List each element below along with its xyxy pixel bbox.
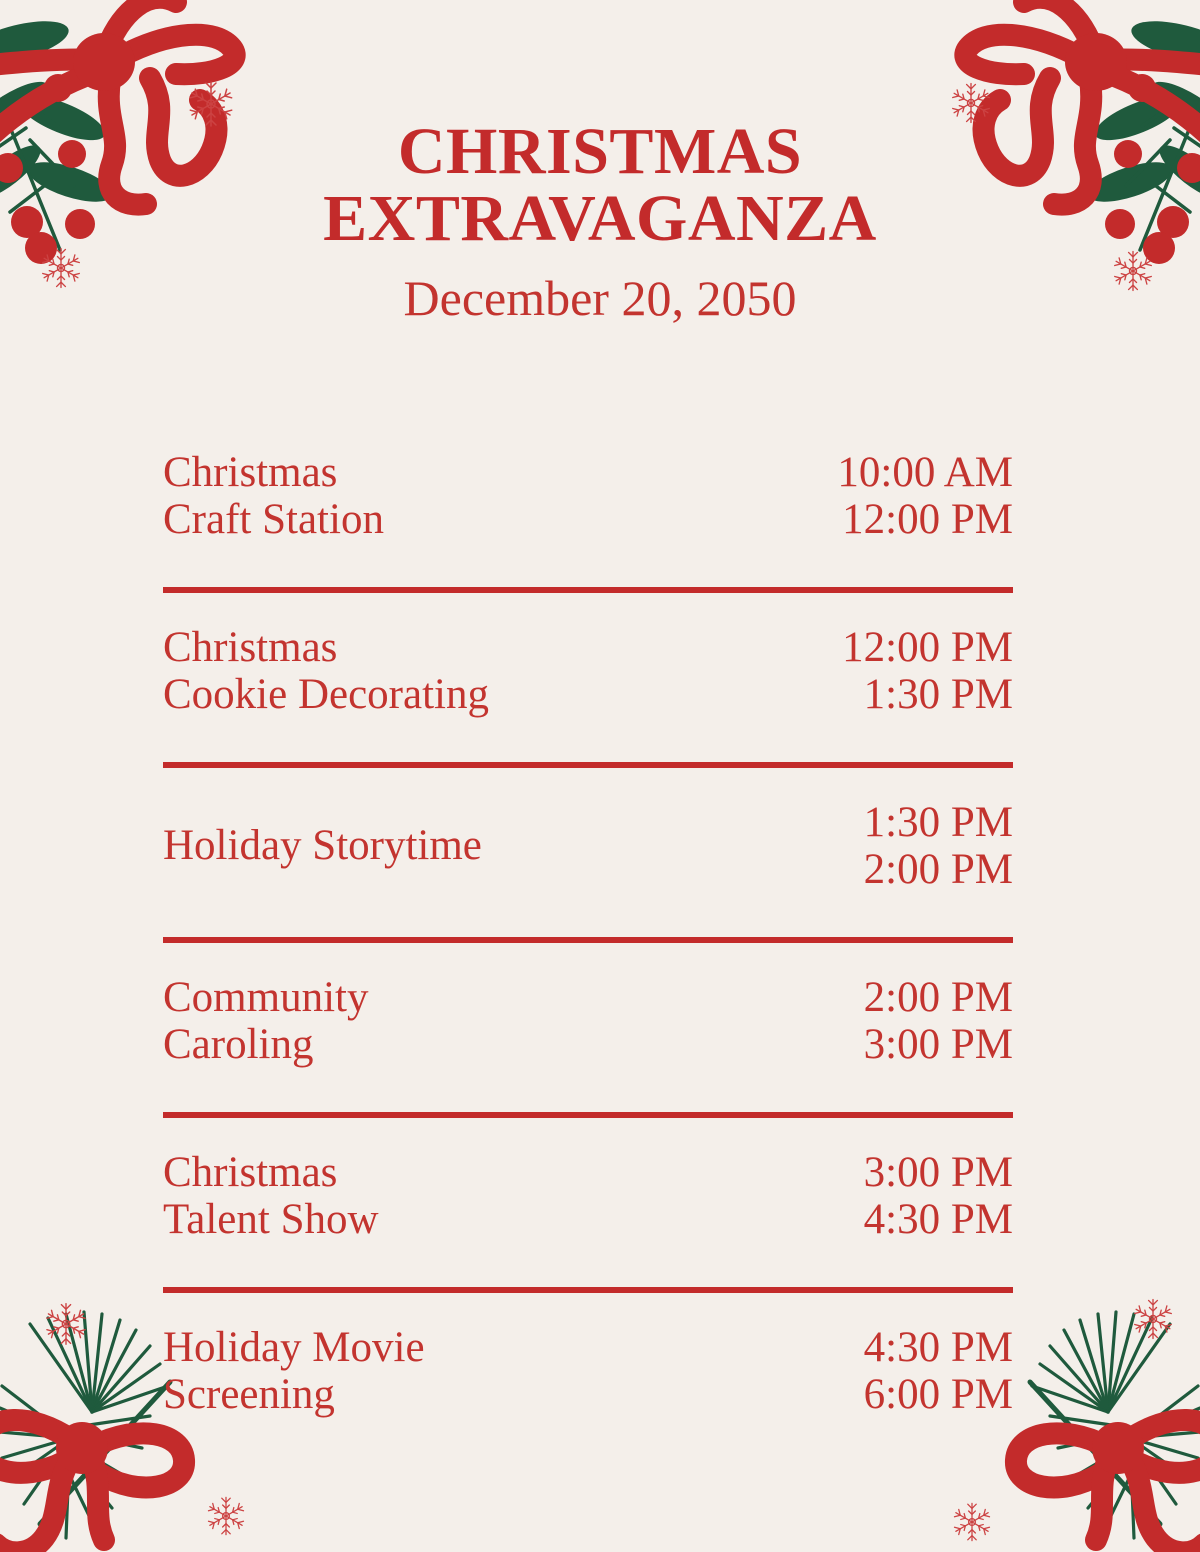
event-time-range: 12:00 PM 1:30 PM [842,625,1013,718]
schedule-row: Christmas Craft Station 10:00 AM 12:00 P… [163,418,1013,593]
event-time-range: 3:00 PM 4:30 PM [864,1150,1013,1243]
event-name: Christmas Craft Station [163,450,384,543]
poster-header: CHRISTMAS EXTRAVAGANZA December 20, 2050 [0,118,1200,326]
event-time-range: 4:30 PM 6:00 PM [864,1325,1013,1418]
snowflake-icon [42,1300,90,1353]
event-time-range: 10:00 AM 12:00 PM [837,450,1013,543]
schedule-row: Christmas Cookie Decorating 12:00 PM 1:3… [163,593,1013,768]
christmas-schedule-poster: CHRISTMAS EXTRAVAGANZA December 20, 2050… [0,0,1200,1552]
event-name: Christmas Talent Show [163,1150,379,1243]
event-name: Holiday Storytime [163,823,482,869]
snowflake-icon [1130,1296,1176,1347]
event-time-range: 1:30 PM 2:00 PM [864,800,1013,893]
page-title-line-2: EXTRAVAGANZA [0,185,1200,252]
event-name: Community Caroling [163,975,368,1068]
schedule-row: Community Caroling 2:00 PM 3:00 PM [163,943,1013,1118]
schedule-row: Holiday Movie Screening 4:30 PM 6:00 PM [163,1293,1013,1468]
schedule-row: Christmas Talent Show 3:00 PM 4:30 PM [163,1118,1013,1293]
snowflake-icon [950,1500,994,1549]
schedule-row: Holiday Storytime 1:30 PM 2:00 PM [163,768,1013,943]
event-time-range: 2:00 PM 3:00 PM [864,975,1013,1068]
schedule-list: Christmas Craft Station 10:00 AM 12:00 P… [163,418,1013,1468]
page-title-line-1: CHRISTMAS [0,118,1200,185]
snowflake-icon [204,1494,248,1543]
event-name: Holiday Movie Screening [163,1325,425,1418]
event-name: Christmas Cookie Decorating [163,625,489,718]
event-date: December 20, 2050 [0,271,1200,326]
